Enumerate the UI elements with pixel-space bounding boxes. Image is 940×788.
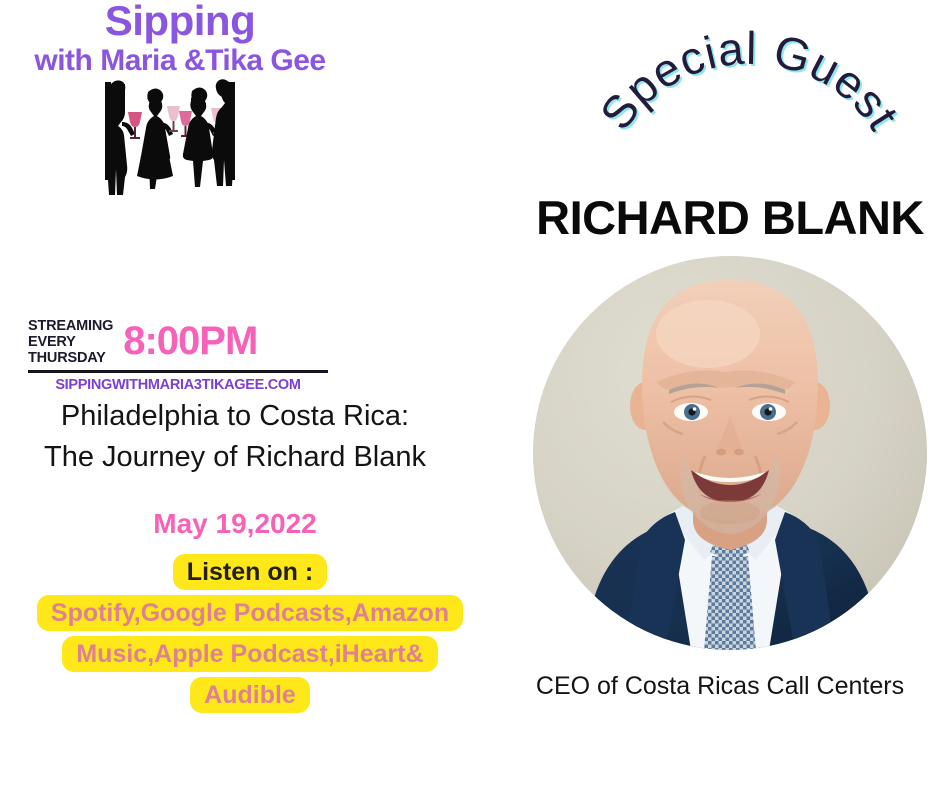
divider: [28, 370, 328, 373]
listen-on-label-line: Listen on :: [0, 553, 500, 591]
listen-on-block: Listen on : Spotify,Google Podcasts,Amaz…: [0, 553, 500, 714]
show-subtitle: with Maria &Tika Gee: [0, 46, 360, 76]
guest-role: CEO of Costa Ricas Call Centers: [500, 672, 940, 701]
listen-platforms-line-2: Music,Apple Podcast,iHeart&: [0, 635, 500, 673]
guest-name: RICHARD BLANK: [520, 190, 940, 245]
streaming-info: STREAMING EVERY THURSDAY 8:00PM SIPPINGW…: [28, 316, 328, 393]
listen-platforms-line-3: Audible: [0, 676, 500, 714]
listen-platforms-line-1: Spotify,Google Podcasts,Amazon: [0, 594, 500, 632]
episode-date: May 19,2022: [0, 508, 470, 540]
svg-text:Special Guest: Special Guest: [590, 22, 910, 139]
streaming-schedule: STREAMING EVERY THURSDAY: [28, 316, 113, 367]
streaming-time: 8:00PM: [123, 321, 257, 361]
podcast-episode-poster: Sipping with Maria &Tika Gee: [0, 0, 940, 788]
streaming-row: STREAMING EVERY THURSDAY 8:00PM: [28, 316, 328, 367]
special-guest-arc: Special Guest Special Guest: [585, 8, 925, 168]
special-guest-arc-text: Special Guest: [590, 22, 910, 139]
listen-platforms-text-2: Music,Apple Podcast,iHeart&: [62, 636, 437, 672]
guest-headshot-portrait: [533, 256, 927, 650]
women-with-wine-glasses-silhouette-icon: [95, 78, 245, 200]
listen-on-label: Listen on :: [173, 554, 327, 590]
episode-title: Philadelphia to Costa Rica: The Journey …: [0, 396, 470, 478]
show-website[interactable]: SIPPINGWITHMARIA3TIKAGEE.COM: [28, 377, 328, 393]
listen-platforms-text-3: Audible: [190, 677, 310, 713]
listen-platforms-text-1: Spotify,Google Podcasts,Amazon: [37, 595, 463, 631]
show-title: Sipping: [0, 0, 360, 42]
